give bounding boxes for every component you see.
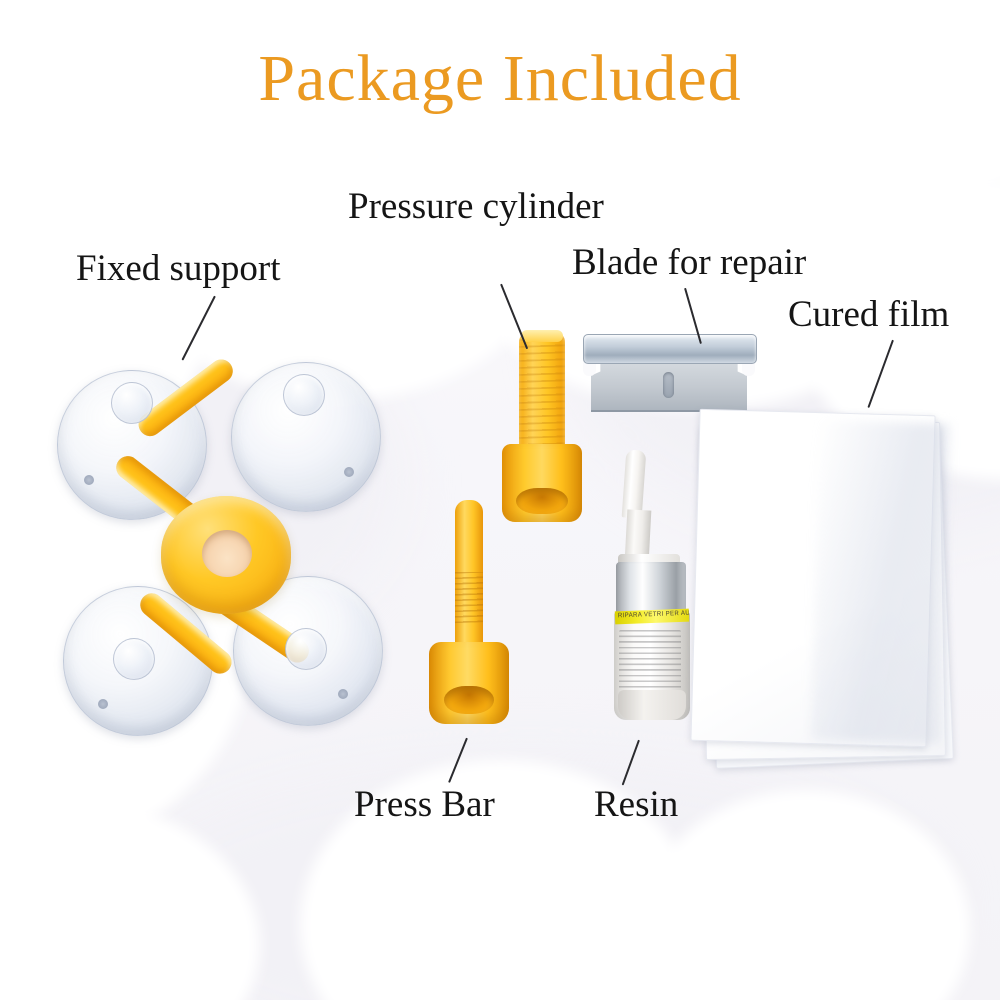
- resin-applicator-tip: [622, 449, 647, 518]
- product-infographic: Package Included: [0, 0, 1000, 1000]
- frame-hub-hole: [202, 530, 252, 577]
- resin-label-band-text: RIPARA VETRI PER AUTO: [618, 610, 689, 620]
- press-bar-ribbing: [455, 572, 483, 624]
- label-blade-for-repair: Blade for repair: [572, 244, 806, 281]
- label-resin: Resin: [594, 786, 678, 823]
- resin-label-text-lines: [619, 630, 681, 692]
- page-title: Package Included: [0, 46, 1000, 112]
- product-fixed-support: [55, 358, 395, 738]
- label-cured-film: Cured film: [788, 296, 949, 333]
- product-press-bar: [424, 500, 516, 730]
- cup-knob-bottom-left: [113, 638, 155, 680]
- product-blade-for-repair: [583, 334, 755, 414]
- cup-knob-top-left: [111, 382, 153, 424]
- label-press-bar: Press Bar: [354, 786, 495, 823]
- blade-center-slot: [663, 372, 674, 398]
- resin-base: [618, 690, 686, 720]
- press-bar-head: [429, 642, 509, 724]
- product-pressure-cylinder: [500, 332, 592, 522]
- blade-spine: [583, 334, 757, 364]
- frame-center-hub: [161, 496, 291, 614]
- pressure-cylinder-top-cap: [521, 330, 563, 342]
- press-bar-mouth: [444, 686, 494, 714]
- cup-knob-bottom-right: [285, 628, 327, 670]
- product-cured-film: [695, 412, 985, 784]
- product-resin-bottle: RIPARA VETRI PER AUTO: [606, 450, 706, 722]
- cup-knob-top-right: [283, 374, 325, 416]
- label-fixed-support: Fixed support: [76, 250, 281, 287]
- film-shading: [811, 420, 950, 744]
- pressure-cylinder-threaded-shaft: [519, 332, 565, 460]
- pressure-cylinder-mouth: [516, 488, 568, 514]
- label-pressure-cylinder: Pressure cylinder: [348, 188, 604, 225]
